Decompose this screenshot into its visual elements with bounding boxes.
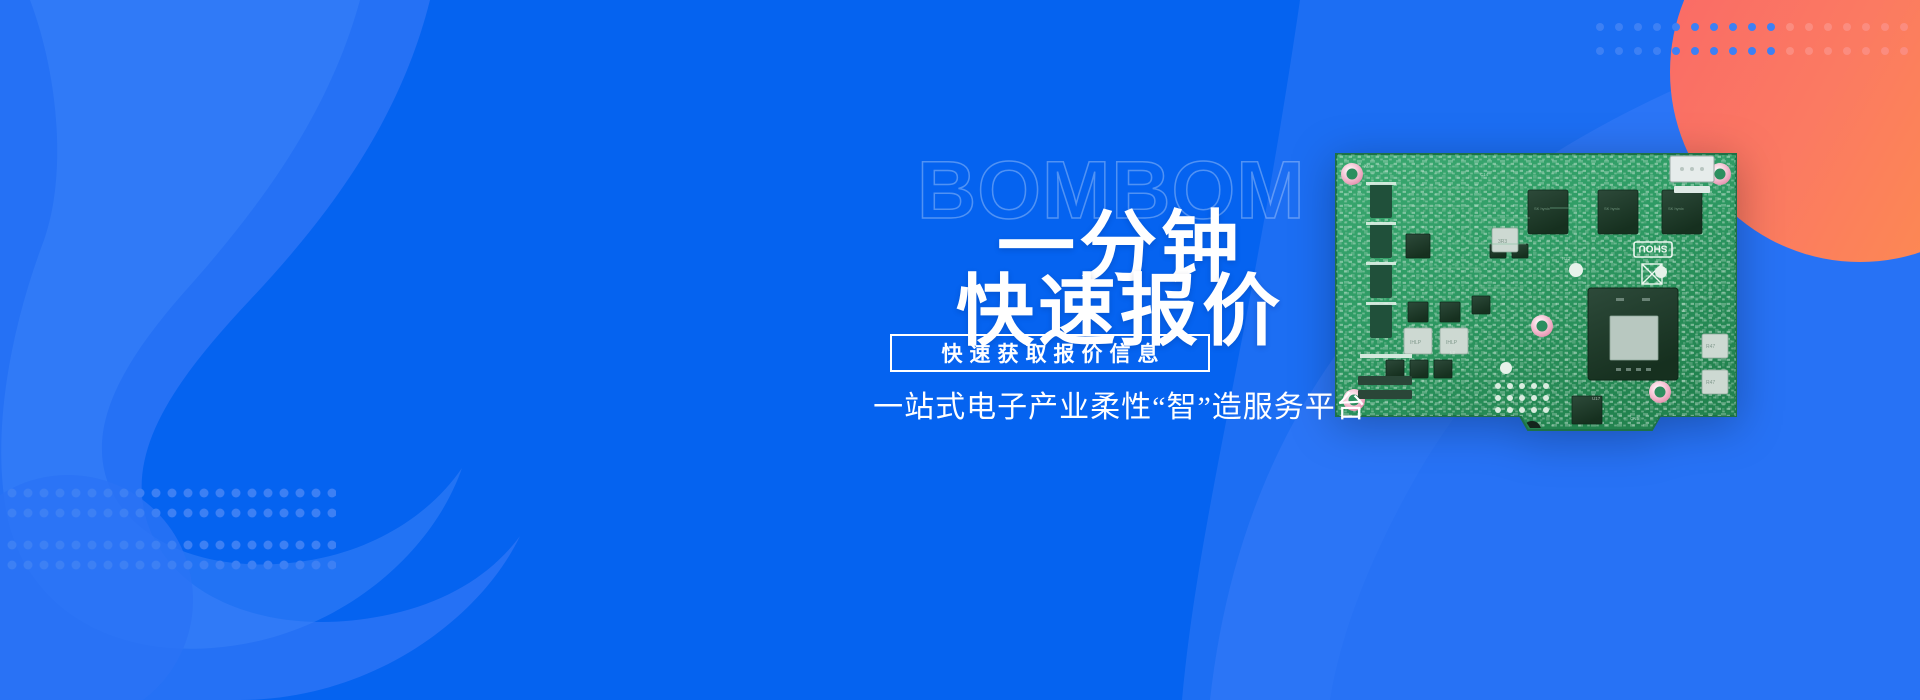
svg-text:R47: R47 [1706, 380, 1715, 386]
quote-info-badge[interactable]: 快速获取报价信息 [890, 334, 1210, 372]
svg-text:IHLP: IHLP [1410, 340, 1422, 346]
svg-text:R22: R22 [1562, 256, 1571, 261]
svg-text:L2: L2 [1450, 350, 1456, 355]
banner-copy: BOMBOM 一分钟 快速报价 快速获取报价信息 一站式电子产业柔性“智”造服务… [860, 150, 1380, 550]
svg-text:IHLP: IHLP [1446, 340, 1458, 346]
svg-text:SHOU: SHOU [1639, 243, 1668, 254]
svg-text:C14: C14 [1480, 172, 1489, 177]
svg-text:SK hynix: SK hynix [1604, 206, 1620, 211]
svg-text:J3: J3 [1682, 308, 1687, 313]
promo-banner: SK hynix SK hynix SK hynix [0, 0, 1920, 700]
svg-text:CN5: CN5 [1630, 416, 1639, 421]
svg-text:U17: U17 [1592, 396, 1601, 401]
quote-info-badge-label: 快速获取报价信息 [935, 338, 1166, 368]
svg-text:SK hynix: SK hynix [1668, 206, 1684, 211]
svg-text:SK hynix: SK hynix [1534, 206, 1550, 211]
platform-tagline: 一站式电子产业柔性“智”造服务平台 [805, 382, 1435, 426]
svg-text:R47: R47 [1706, 344, 1715, 350]
